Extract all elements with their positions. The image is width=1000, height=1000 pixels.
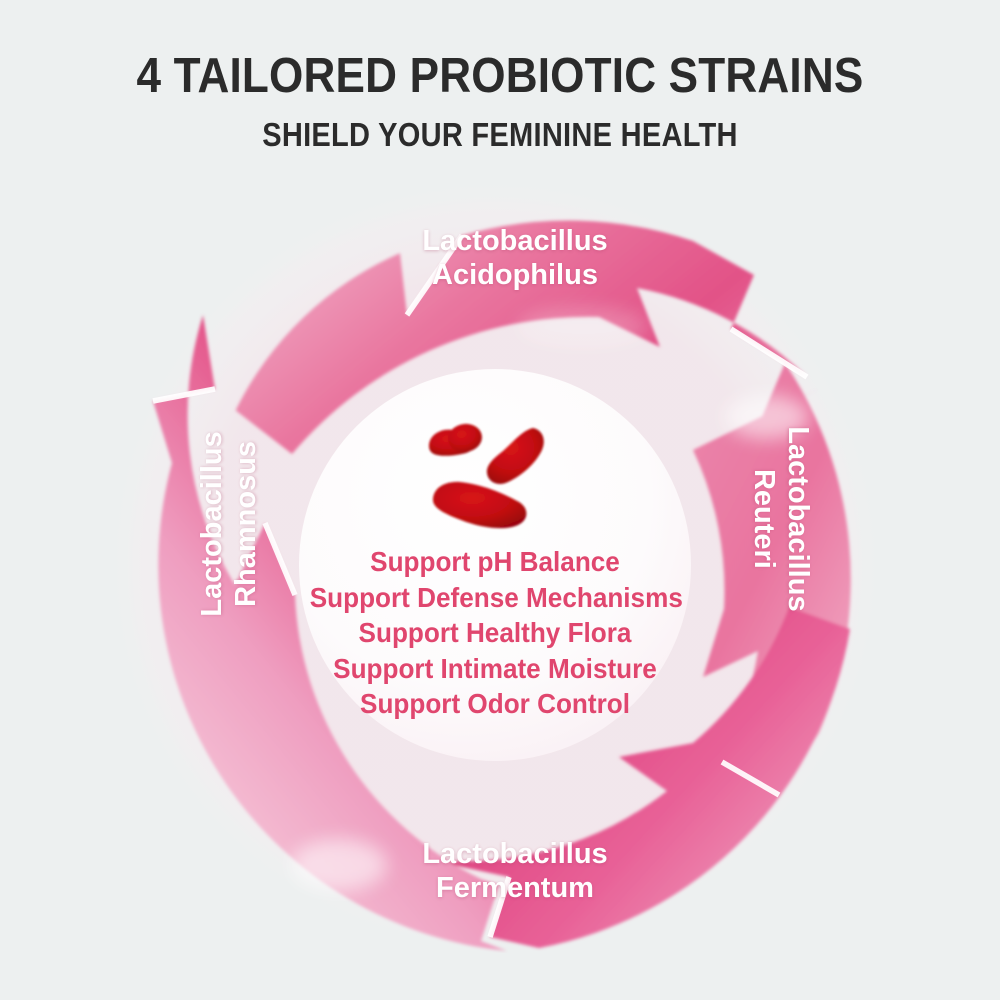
page-title: 4 TAILORED PROBIOTIC STRAINS: [50, 52, 950, 102]
center-disc: [299, 369, 691, 761]
page-subtitle: SHIELD YOUR FEMININE HEALTH: [60, 116, 940, 154]
header: 4 TAILORED PROBIOTIC STRAINS SHIELD YOUR…: [0, 0, 1000, 154]
cycle-diagram: [107, 177, 883, 953]
cycle-arrow-ring: [107, 177, 883, 953]
